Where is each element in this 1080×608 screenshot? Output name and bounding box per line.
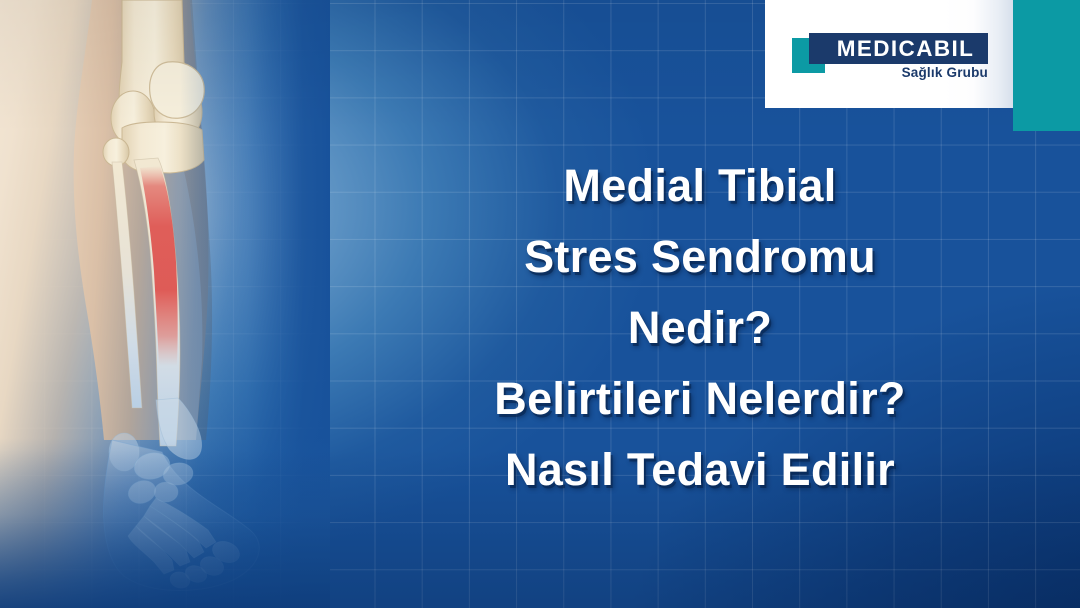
headline-line-5: Nasıl Tedavi Edilir <box>360 434 1040 505</box>
headline-block: Medial Tibial Stres Sendromu Nedir? Beli… <box>360 150 1040 505</box>
logo-wordmark: MEDICABIL <box>823 36 975 62</box>
logo-navy-bar: MEDICABIL <box>809 33 988 64</box>
brand-logo-lockup: MEDICABIL Sağlık Grubu <box>792 33 992 91</box>
headline-line-1: Medial Tibial <box>360 150 1040 221</box>
logo-teal-accent-block <box>1013 0 1080 131</box>
logo-tagline: Sağlık Grubu <box>902 65 988 80</box>
headline-line-3: Nedir? <box>360 292 1040 363</box>
poster-canvas: MEDICABIL Sağlık Grubu Medial Tibial Str… <box>0 0 1080 608</box>
headline-line-2: Stres Sendromu <box>360 221 1040 292</box>
headline-line-4: Belirtileri Nelerdir? <box>360 363 1040 434</box>
brand-logo-panel[interactable]: MEDICABIL Sağlık Grubu <box>765 0 1013 108</box>
footer-bar: 444 8 112 <box>0 530 1080 608</box>
